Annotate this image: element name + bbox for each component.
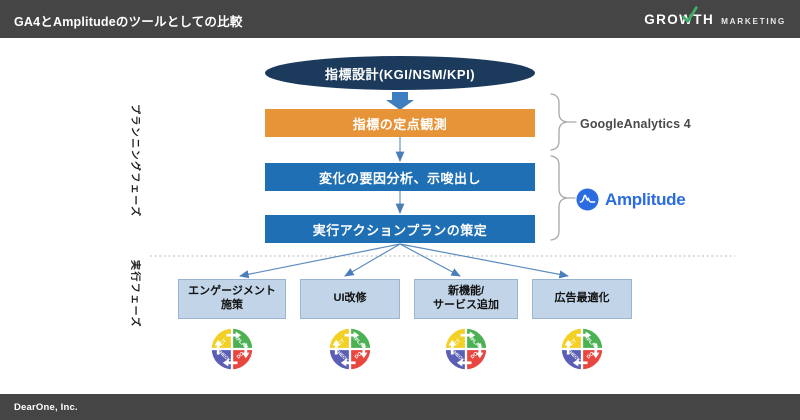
diagram-canvas: プランニングフェーズ 実行フェーズ 指標設計(KGI/NSM/KPI) 指標の定… (0, 38, 800, 394)
flow-node-metric-design[interactable]: 指標設計(KGI/NSM/KPI) (265, 56, 535, 90)
flow-node-action-plan[interactable]: 実行アクションプランの策定 (265, 215, 535, 243)
amplitude-wordmark: Amplitude (605, 190, 685, 210)
action-box-new-feature[interactable]: 新機能/サービス追加 (414, 279, 518, 319)
slide-header: GA4とAmplitudeのツールとしての比較 GROWTH MARKETING (0, 0, 800, 38)
flow-node-factor-analysis[interactable]: 変化の要因分析、示唆出し (265, 163, 535, 191)
pdca-wheel-icon-1 (209, 326, 255, 372)
arrow-design-to-monitor (386, 92, 414, 110)
pdca-wheel-icon-4 (559, 326, 605, 372)
arrow-plan-to-action-1 (240, 244, 400, 276)
action-box-engagement-text: エンゲージメント施策 (188, 285, 276, 313)
logo-sub-label: MARKETING (721, 17, 786, 26)
amplitude-label-group: Amplitude (576, 188, 685, 211)
logo-brand-label: GROWTH (644, 12, 714, 27)
ga4-label: GoogleAnalytics 4 (580, 117, 691, 131)
arrow-plan-to-action-2 (345, 244, 400, 276)
action-box-ui-improvement-text: UI改修 (334, 292, 367, 306)
flow-node-metric-monitoring[interactable]: 指標の定点観測 (265, 109, 535, 137)
action-box-new-feature-text: 新機能/サービス追加 (433, 285, 499, 313)
action-box-ad-optimization-text: 広告最適化 (555, 292, 610, 306)
slide-root: GA4とAmplitudeのツールとしての比較 GROWTH MARKETING (0, 0, 800, 420)
pdca-wheel-icon-3 (443, 326, 489, 372)
action-box-ui-improvement[interactable]: UI改修 (300, 279, 400, 319)
brace-ga4 (551, 94, 576, 150)
growth-check-icon (681, 6, 698, 23)
slide-footer: DearOne, Inc. (0, 394, 800, 420)
growth-marketing-logo: GROWTH MARKETING (644, 12, 786, 27)
amplitude-logo-icon (576, 188, 599, 211)
arrow-plan-to-action-4 (400, 244, 568, 276)
logo-brand-text: GROWTH (644, 12, 714, 27)
pdca-wheel-icon-2 (327, 326, 373, 372)
footer-company-label: DearOne, Inc. (14, 402, 78, 413)
brace-amplitude (551, 156, 575, 240)
sidebar-item-execution-phase: 実行フェーズ (129, 260, 144, 328)
page-title: GA4とAmplitudeのツールとしての比較 (14, 11, 243, 30)
action-box-engagement[interactable]: エンゲージメント施策 (178, 279, 286, 319)
arrow-plan-to-action-3 (400, 244, 460, 276)
sidebar-item-planning-phase: プランニングフェーズ (129, 104, 144, 218)
action-box-ad-optimization[interactable]: 広告最適化 (532, 279, 632, 319)
